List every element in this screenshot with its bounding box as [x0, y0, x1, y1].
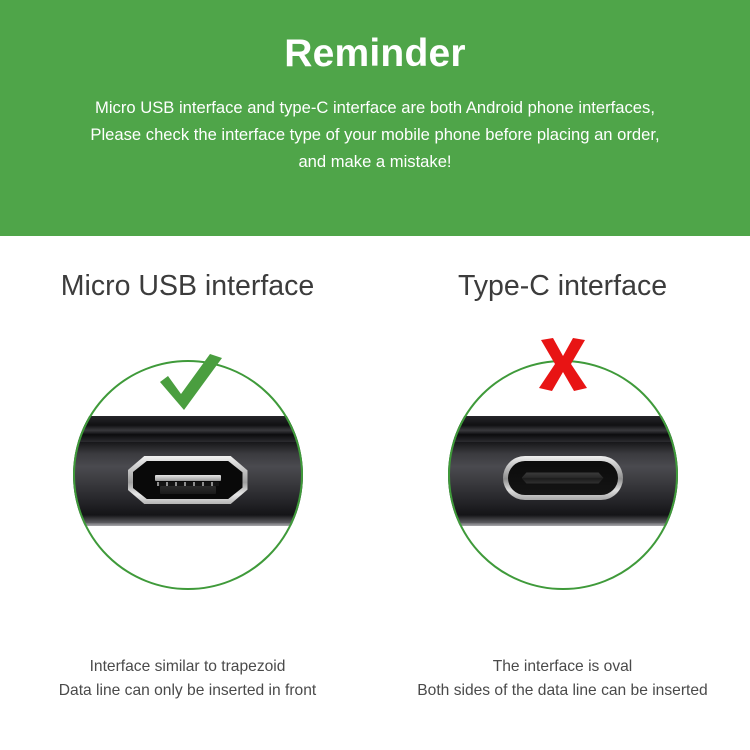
type-c-caption-line-2: Both sides of the data line can be inser… — [375, 679, 750, 702]
type-c-port-cavity — [508, 461, 618, 495]
type-c-port — [503, 456, 623, 500]
type-c-caption-line-1: The interface is oval — [375, 655, 750, 678]
micro-usb-caption-line-2: Data line can only be inserted in front — [0, 679, 375, 702]
header-banner: Reminder Micro USB interface and type-C … — [0, 0, 750, 236]
header-description-line-1: Micro USB interface and type-C interface… — [0, 95, 750, 122]
micro-usb-column: Micro USB interface — [0, 236, 375, 750]
header-description-line-3: and make a mistake! — [0, 149, 750, 176]
check-mark-icon — [148, 352, 228, 414]
type-c-caption: The interface is oval Both sides of the … — [375, 655, 750, 702]
micro-usb-contact-bar — [155, 475, 221, 481]
type-c-column: Type-C interface — [375, 236, 750, 750]
cross-mark-icon — [535, 338, 591, 392]
micro-usb-caption: Interface similar to trapezoid Data line… — [0, 655, 375, 702]
micro-usb-illustration — [73, 360, 303, 590]
micro-usb-caption-line-1: Interface similar to trapezoid — [0, 655, 375, 678]
type-c-title: Type-C interface — [375, 272, 750, 301]
micro-usb-title: Micro USB interface — [0, 272, 375, 301]
micro-usb-port-cavity — [133, 461, 243, 499]
type-c-tongue — [522, 473, 604, 484]
micro-usb-tongue — [160, 486, 216, 494]
reminder-page: Reminder Micro USB interface and type-C … — [0, 0, 750, 750]
header-description-line-2: Please check the interface type of your … — [0, 122, 750, 149]
micro-usb-port — [128, 456, 248, 504]
type-c-illustration — [448, 360, 678, 590]
comparison-section: Micro USB interface — [0, 236, 750, 750]
page-title: Reminder — [0, 0, 750, 73]
header-description: Micro USB interface and type-C interface… — [0, 73, 750, 176]
